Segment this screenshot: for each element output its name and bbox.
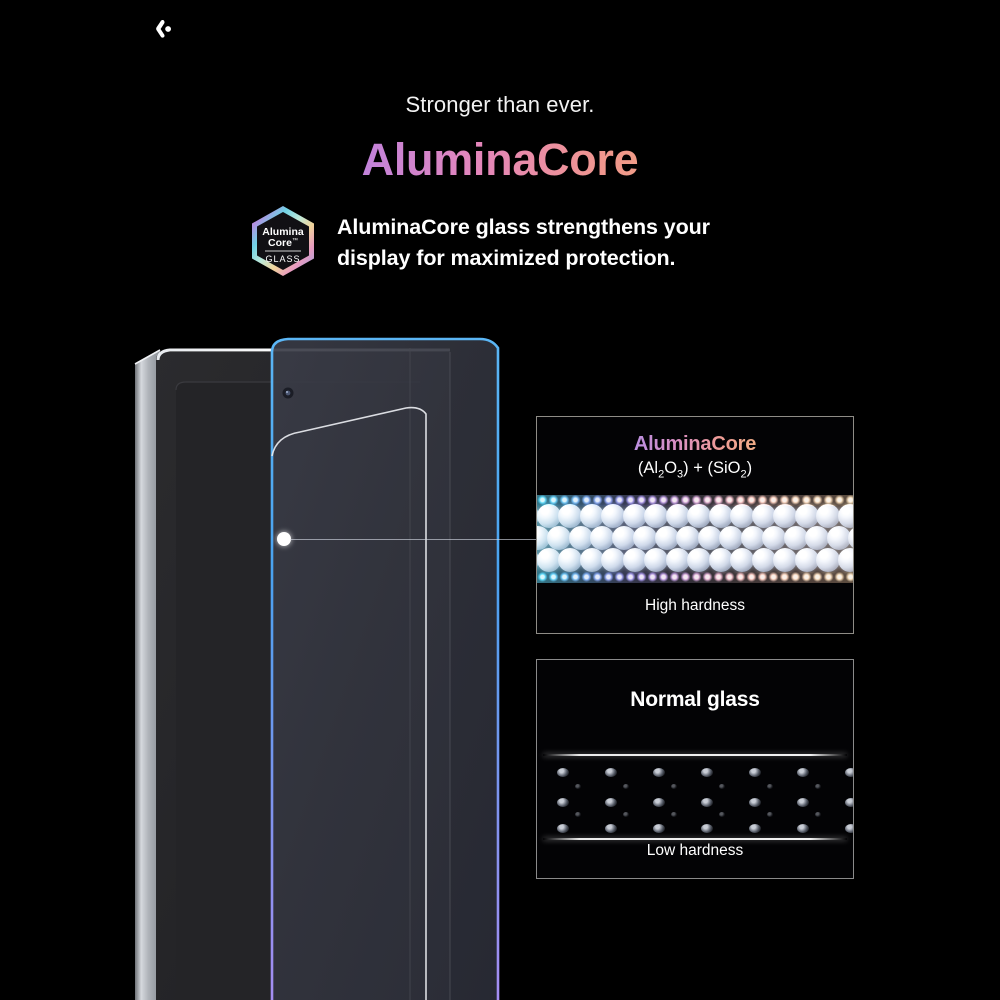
panel-alumina-core: AluminaCore (Al2O3) + (SiO2) High hardne… bbox=[536, 416, 854, 634]
molecule bbox=[653, 824, 665, 833]
formula-mid: O bbox=[664, 459, 677, 477]
molecule bbox=[671, 784, 677, 789]
page-title: AluminaCore bbox=[0, 134, 1000, 186]
molecule bbox=[815, 812, 821, 817]
molecule bbox=[575, 812, 581, 817]
product-render bbox=[120, 330, 540, 1000]
lattice-row bbox=[551, 768, 839, 780]
svg-text:GLASS: GLASS bbox=[265, 254, 300, 264]
alumina-core-glass-badge: Alumina Core ™ GLASS bbox=[250, 205, 316, 277]
svg-text:™: ™ bbox=[292, 237, 298, 244]
molecule bbox=[749, 798, 761, 807]
panel-normal-caption: Low hardness bbox=[537, 842, 853, 860]
molecule bbox=[797, 824, 809, 833]
panel-alumina-caption: High hardness bbox=[537, 597, 853, 615]
molecule bbox=[815, 784, 821, 789]
molecule bbox=[797, 798, 809, 807]
svg-text:Core: Core bbox=[268, 237, 292, 249]
lattice-boundary-bottom bbox=[543, 838, 847, 840]
molecule bbox=[845, 824, 854, 833]
molecule bbox=[653, 798, 665, 807]
molecule bbox=[623, 784, 629, 789]
lattice-row bbox=[551, 784, 839, 796]
lattice-row bbox=[551, 824, 839, 836]
molecule bbox=[719, 812, 725, 817]
molecule bbox=[575, 784, 581, 789]
molecule bbox=[671, 812, 677, 817]
lattice-boundary-top bbox=[543, 754, 847, 756]
eyebrow-text: Stronger than ever. bbox=[0, 92, 1000, 118]
lattice-row bbox=[551, 812, 839, 824]
formula-suffix: ) bbox=[747, 459, 753, 477]
formula-join: ) + (SiO bbox=[683, 459, 740, 477]
product-feature-page: Stronger than ever. AluminaCore Alumina … bbox=[0, 0, 1000, 1000]
feature-description: AluminaCore glass strengthens your displ… bbox=[337, 212, 777, 274]
molecule bbox=[623, 812, 629, 817]
molecule bbox=[749, 768, 761, 777]
panel-alumina-title: AluminaCore bbox=[537, 433, 853, 456]
panel-normal-title: Normal glass bbox=[537, 688, 853, 712]
molecule bbox=[767, 812, 773, 817]
lattice-row bbox=[551, 798, 839, 810]
molecule bbox=[845, 798, 854, 807]
molecule bbox=[605, 798, 617, 807]
panel-normal-glass: Normal glass Low hardness bbox=[536, 659, 854, 879]
molecule bbox=[797, 768, 809, 777]
molecule bbox=[701, 768, 713, 777]
molecule bbox=[719, 784, 725, 789]
molecule bbox=[845, 768, 854, 777]
molecule bbox=[557, 798, 569, 807]
molecule bbox=[701, 798, 713, 807]
sparse-molecular-lattice bbox=[551, 754, 839, 840]
panel-alumina-formula: (Al2O3) + (SiO2) bbox=[537, 459, 853, 480]
molecule bbox=[605, 768, 617, 777]
molecule bbox=[767, 784, 773, 789]
molecule bbox=[749, 824, 761, 833]
molecule bbox=[557, 768, 569, 777]
molecule bbox=[605, 824, 617, 833]
callout-dot bbox=[277, 532, 291, 546]
molecule bbox=[653, 768, 665, 777]
dense-molecular-lattice bbox=[537, 495, 853, 583]
molecule bbox=[557, 824, 569, 833]
formula-prefix: (Al bbox=[638, 459, 658, 477]
molecule bbox=[701, 824, 713, 833]
spigen-logo-icon[interactable] bbox=[146, 14, 176, 44]
lattice-iridescent-tint bbox=[537, 495, 853, 583]
callout-leader-line bbox=[290, 539, 538, 540]
